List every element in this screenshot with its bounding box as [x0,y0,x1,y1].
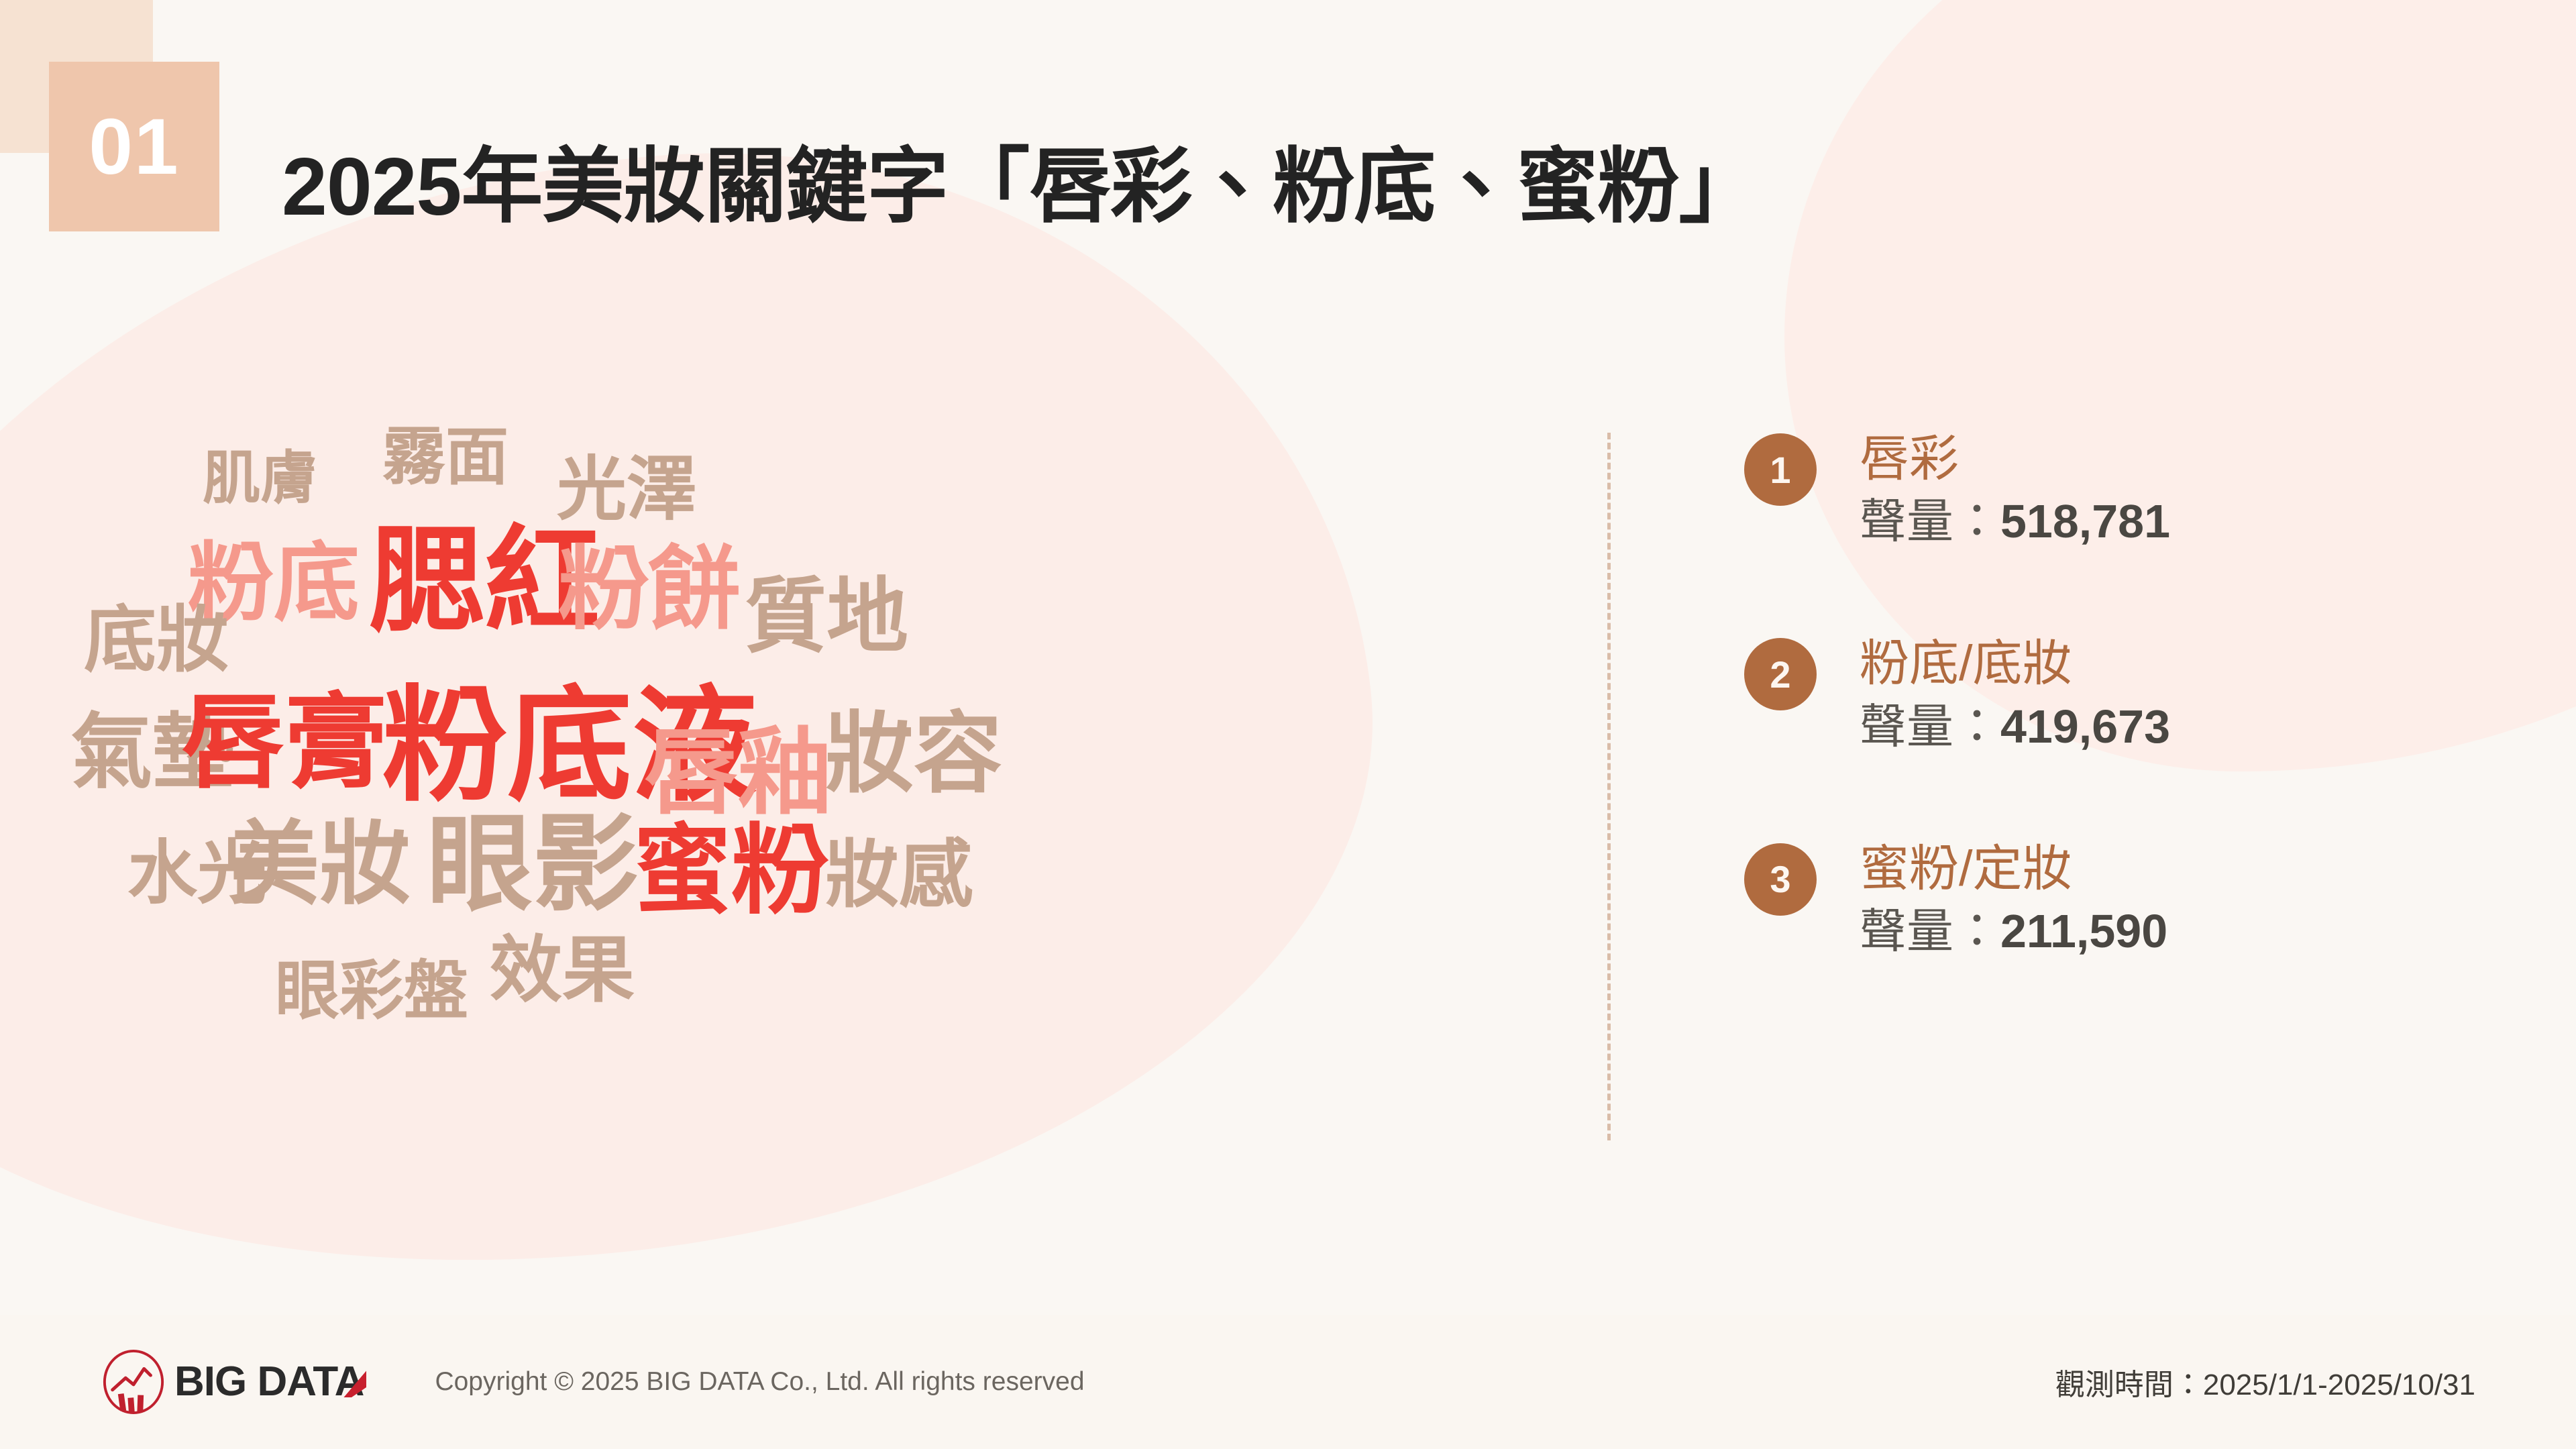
keyword-ranking-list: 1唇彩聲量：518,7812粉底/底妝聲量：419,6733蜜粉/定妝聲量：21… [1744,429,2482,959]
ranking-row: 1唇彩聲量：518,781 [1744,429,2482,549]
volume-label: 聲量： [1860,495,2000,547]
section-number: 01 [49,62,219,231]
ranking-row: 2粉底/底妝聲量：419,673 [1744,634,2482,754]
ranking-volume: 聲量：211,590 [1860,903,2167,959]
ranking-text-group: 唇彩聲量：518,781 [1860,429,2170,549]
wordcloud-term: 唇膏 [181,691,388,794]
volume-value: 419,673 [2000,700,2170,753]
rank-badge: 3 [1744,843,1817,916]
page-footer: BIG DATA Copyright © 2025 BIG DATA Co., … [0,1315,2576,1449]
wordcloud-term: 妝感 [825,839,973,912]
volume-label: 聲量： [1860,905,2000,957]
brand-logo-text: BIG DATA [174,1361,364,1403]
wordcloud-term: 眼影 [427,812,639,918]
volume-label: 聲量： [1860,700,2000,753]
page-title: 2025年美妝關鍵字「唇彩、粉底、蜜粉」 [282,136,1760,238]
wordcloud-term: 肌膚 [203,449,318,507]
logo-accent-stroke [343,1371,366,1397]
wordcloud-term: 妝容 [825,710,1002,798]
wordcloud-term: 唇釉 [644,726,832,820]
ranking-volume: 聲量：518,781 [1860,493,2170,549]
big-data-chart-circle-icon [101,1349,166,1415]
observation-period: 觀測時間：2025/1/1-2025/10/31 [2055,1360,2475,1403]
wordcloud-term: 光澤 [557,455,696,525]
wordcloud-term: 霧面 [382,425,508,488]
vertical-dotted-divider [1607,433,1611,1140]
wordcloud-term: 眼彩盤 [275,959,468,1024]
ranking-text-group: 蜜粉/定妝聲量：211,590 [1860,839,2167,959]
ranking-row: 3蜜粉/定妝聲量：211,590 [1744,839,2482,959]
wordcloud-term: 底妝 [84,604,229,676]
ranking-text-group: 粉底/底妝聲量：419,673 [1860,634,2170,754]
rank-badge: 1 [1744,433,1817,506]
wordcloud-term: 美妝 [228,818,411,910]
copyright-text: Copyright © 2025 BIG DATA Co., Ltd. All … [435,1367,1084,1397]
rank-badge: 2 [1744,638,1817,710]
brand-logo[interactable]: BIG DATA [101,1349,364,1415]
wordcloud-term: 粉餅 [558,543,741,635]
ranking-keyword: 粉底/底妝 [1860,634,2170,692]
wordcloud-term: 蜜粉 [633,822,829,920]
wordcloud-term: 質地 [745,576,908,657]
ranking-keyword: 蜜粉/定妝 [1860,839,2167,898]
ranking-keyword: 唇彩 [1860,429,2170,488]
wordcloud-term: 效果 [490,934,635,1006]
volume-value: 211,590 [2000,905,2167,957]
volume-value: 518,781 [2000,495,2170,547]
word-cloud: 肌膚霧面光澤粉底腮紅粉餅質地底妝氣墊唇膏粉底液唇釉妝容水光美妝眼影蜜粉妝感眼彩盤… [168,423,1576,1154]
ranking-volume: 聲量：419,673 [1860,698,2170,755]
